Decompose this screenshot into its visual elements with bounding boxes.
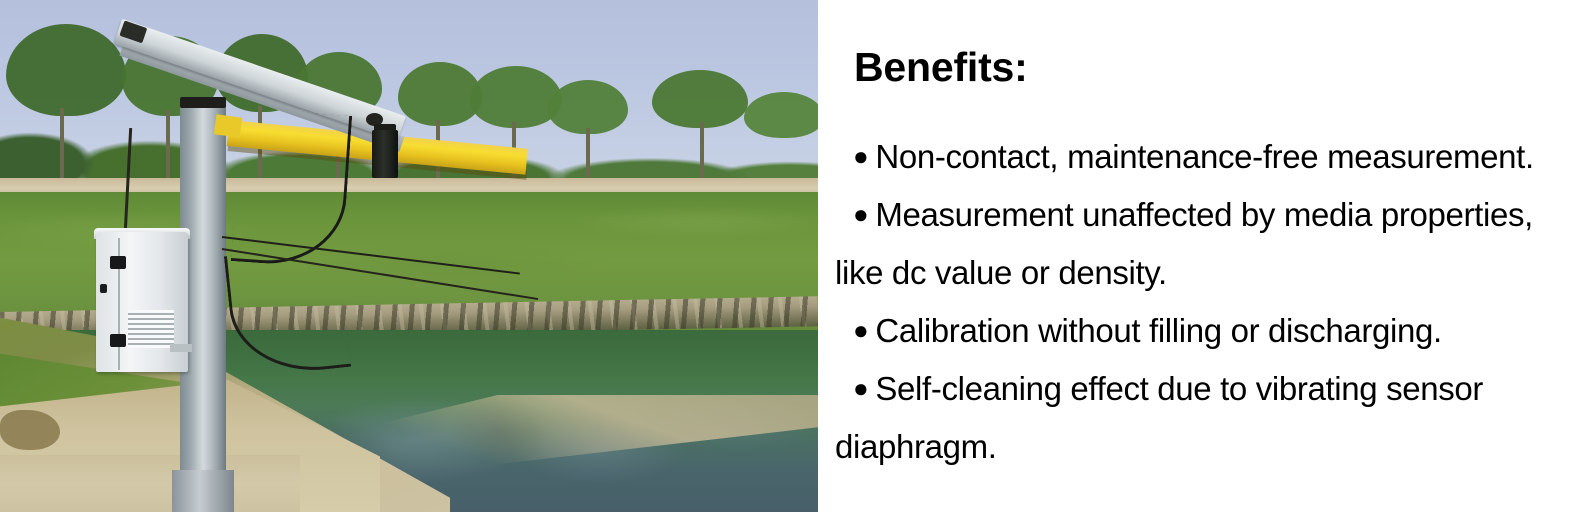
installation-photo bbox=[0, 0, 818, 512]
slide-root: Benefits: ●Non-contact, maintenance-free… bbox=[0, 0, 1586, 512]
list-item-text: like dc value or density. bbox=[835, 254, 1167, 291]
foreground-debris bbox=[0, 410, 60, 450]
cabinet-vent-louvers bbox=[128, 310, 174, 348]
beam-mount-bracket bbox=[214, 114, 243, 137]
list-item-text: Measurement unaffected by media properti… bbox=[875, 196, 1533, 233]
tree-canopy bbox=[6, 24, 126, 116]
foreground-ground bbox=[0, 455, 300, 512]
cabinet-latch bbox=[100, 284, 107, 293]
tree-canopy bbox=[652, 70, 748, 128]
list-item: ●Calibration without filling or discharg… bbox=[835, 302, 1575, 360]
bullet-dot-icon: ● bbox=[853, 314, 868, 347]
cabinet-hinge-lower bbox=[110, 334, 126, 347]
radar-sensor-box bbox=[372, 130, 398, 178]
list-item-text: diaphragm. bbox=[835, 428, 997, 465]
tree-canopy bbox=[744, 92, 818, 138]
tree-trunk bbox=[166, 110, 170, 186]
list-item-continuation: diaphragm. bbox=[835, 418, 1575, 476]
page-title: Benefits: bbox=[854, 44, 1028, 91]
list-item: ●Measurement unaffected by media propert… bbox=[835, 186, 1575, 244]
benefits-list: ●Non-contact, maintenance-free measureme… bbox=[835, 128, 1575, 476]
bullet-dot-icon: ● bbox=[853, 140, 868, 173]
tree-canopy bbox=[470, 66, 562, 128]
cabinet-pole-bracket bbox=[170, 344, 192, 352]
tree-trunk bbox=[60, 108, 64, 186]
list-item-text: Calibration without filling or dischargi… bbox=[875, 312, 1441, 349]
pole-base bbox=[172, 470, 234, 512]
pole-clamp-band bbox=[180, 97, 226, 108]
tree-canopy bbox=[548, 80, 628, 134]
tree-canopy bbox=[398, 62, 482, 126]
list-item: ●Non-contact, maintenance-free measureme… bbox=[835, 128, 1575, 186]
list-item: ●Self-cleaning effect due to vibrating s… bbox=[835, 360, 1575, 418]
list-item-text: Non-contact, maintenance-free measuremen… bbox=[875, 138, 1533, 175]
bullet-dot-icon: ● bbox=[853, 198, 868, 231]
list-item-text: Self-cleaning effect due to vibrating se… bbox=[875, 370, 1483, 407]
bullet-dot-icon: ● bbox=[853, 372, 868, 405]
benefits-text-panel: Benefits: ●Non-contact, maintenance-free… bbox=[818, 0, 1586, 512]
list-item-continuation: like dc value or density. bbox=[835, 244, 1575, 302]
cabinet-hinge-upper bbox=[110, 256, 126, 269]
